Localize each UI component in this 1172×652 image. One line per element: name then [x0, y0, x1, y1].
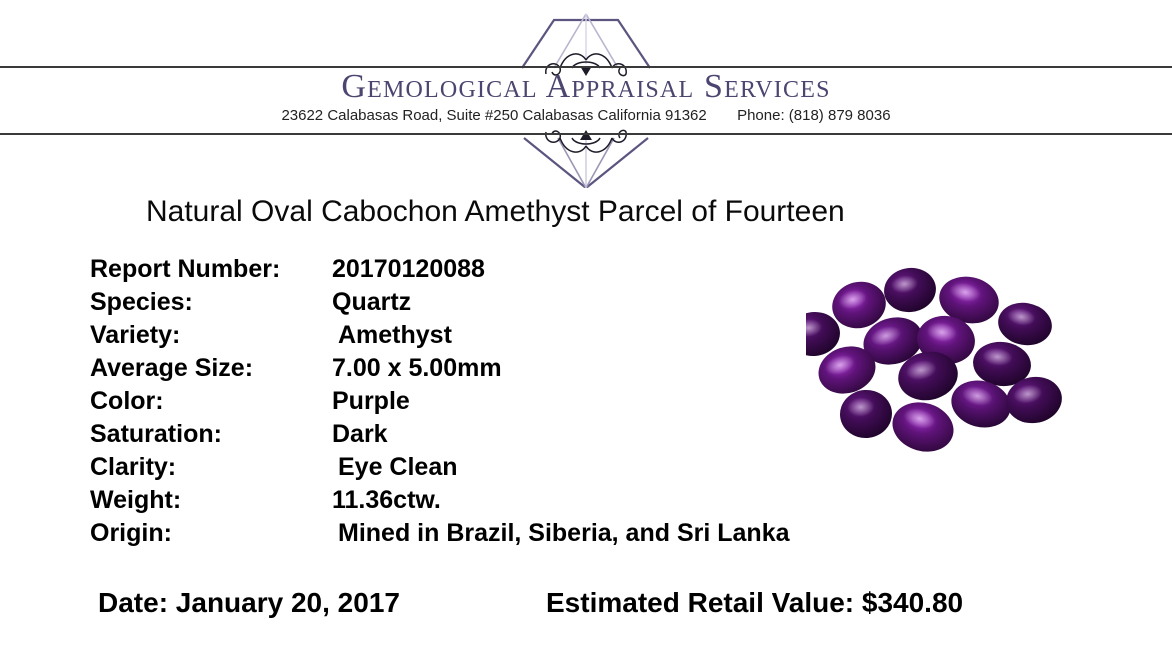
date-value: January 20, 2017: [176, 587, 400, 618]
spec-label-clarity: Clarity:: [90, 451, 332, 484]
retail-value-amount: $340.80: [862, 587, 963, 618]
spec-row-color: Color:Purple: [90, 385, 850, 418]
spec-label-species: Species:: [90, 286, 332, 319]
spec-row-report-number: Report Number:20170120088: [90, 253, 850, 286]
spec-label-variety: Variety:: [90, 319, 332, 352]
company-phone: Phone: (818) 879 8036: [737, 107, 890, 124]
company-address-line: 23622 Calabasas Road, Suite #250 Calabas…: [0, 108, 1172, 123]
gem-stone: [995, 299, 1055, 350]
spec-value-origin: Mined in Brazil, Siberia, and Sri Lanka: [332, 517, 790, 550]
company-address-text: 23622 Calabasas Road, Suite #250 Calabas…: [281, 107, 706, 124]
company-name: Gemological Appraisal Services: [0, 70, 1172, 104]
header-rule-bottom: [0, 133, 1172, 135]
date-line: Date: January 20, 2017: [98, 583, 400, 623]
spec-value-average-size: 7.00 x 5.00mm: [332, 352, 502, 385]
letterhead: Gemological Appraisal Services 23622 Cal…: [0, 0, 1172, 190]
gem-stone: [887, 395, 960, 458]
spec-row-clarity: Clarity:Eye Clean: [90, 451, 850, 484]
amethyst-cabochon-parcel-photo: [806, 252, 1086, 467]
date-label: Date:: [98, 587, 168, 618]
spec-label-average-size: Average Size:: [90, 352, 332, 385]
spec-row-saturation: Saturation:Dark: [90, 418, 850, 451]
gem-stone: [838, 388, 893, 440]
spec-label-report-number: Report Number:: [90, 253, 332, 286]
page-title: Natural Oval Cabochon Amethyst Parcel of…: [146, 193, 845, 231]
spec-row-average-size: Average Size:7.00 x 5.00mm: [90, 352, 850, 385]
specification-list: Report Number:20170120088 Species:Quartz…: [90, 253, 850, 550]
spec-label-color: Color:: [90, 385, 332, 418]
document-footer: Date: January 20, 2017 Estimated Retail …: [0, 583, 1172, 628]
spec-value-species: Quartz: [332, 286, 411, 319]
spec-value-report-number: 20170120088: [332, 253, 485, 286]
gem-stone: [881, 265, 939, 316]
retail-value-label: Estimated Retail Value:: [546, 587, 854, 618]
spec-label-origin: Origin:: [90, 517, 332, 550]
retail-value-line: Estimated Retail Value: $340.80: [546, 583, 963, 623]
spec-value-variety: Amethyst: [332, 319, 452, 352]
gem-stone-group: [806, 265, 1066, 459]
spec-value-color: Purple: [332, 385, 410, 418]
spec-row-weight: Weight:11.36ctw.: [90, 484, 850, 517]
appraisal-document: Gemological Appraisal Services 23622 Cal…: [0, 0, 1172, 652]
spec-row-species: Species:Quartz: [90, 286, 850, 319]
spec-value-clarity: Eye Clean: [332, 451, 458, 484]
spec-label-saturation: Saturation:: [90, 418, 332, 451]
spec-value-saturation: Dark: [332, 418, 388, 451]
spec-label-weight: Weight:: [90, 484, 332, 517]
spec-row-variety: Variety:Amethyst: [90, 319, 850, 352]
spec-value-weight: 11.36ctw.: [332, 484, 441, 517]
spec-row-origin: Origin:Mined in Brazil, Siberia, and Sri…: [90, 517, 850, 550]
